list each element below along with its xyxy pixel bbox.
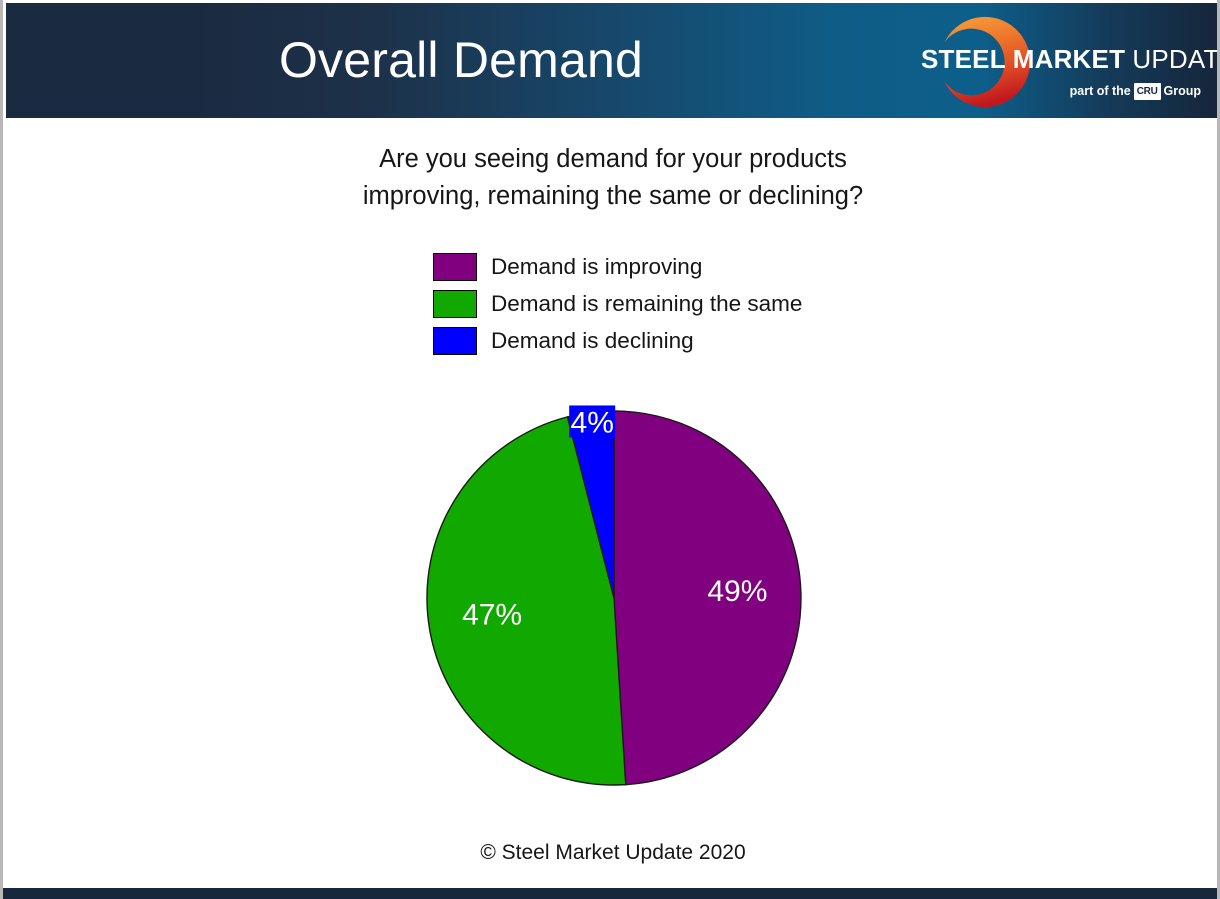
- legend-label-declining: Demand is declining: [491, 328, 694, 354]
- legend-label-improving: Demand is improving: [491, 254, 702, 280]
- logo-wordmark-bold: STEEL MARKET: [921, 44, 1125, 74]
- chart-question-title: Are you seeing demand for your products …: [6, 141, 1220, 215]
- logo-tagline-suffix: Group: [1164, 84, 1202, 98]
- legend-item-same: Demand is remaining the same: [433, 285, 913, 322]
- logo-tagline-prefix: part of the: [1070, 84, 1131, 98]
- legend-item-improving: Demand is improving: [433, 248, 913, 285]
- logo-wordmark: STEEL MARKET UPDATE: [918, 43, 1208, 75]
- page-title: Overall Demand: [6, 29, 916, 91]
- pie-data-label: 4%: [571, 406, 614, 439]
- pie-data-label: 47%: [462, 598, 522, 631]
- copyright-note: © Steel Market Update 2020: [6, 841, 1220, 865]
- pie-data-label: 49%: [707, 575, 767, 608]
- bottom-accent-bar: [3, 888, 1220, 899]
- chart-legend: Demand is improving Demand is remaining …: [433, 248, 913, 359]
- logo-tagline: part of theCRUGroup: [918, 83, 1201, 100]
- legend-swatch-same: [433, 290, 477, 318]
- logo-wordmark-light: UPDATE: [1132, 44, 1220, 74]
- question-line-1: Are you seeing demand for your products: [6, 141, 1220, 178]
- slide-canvas: Overall Demand: [0, 0, 1220, 899]
- cru-badge: CRU: [1134, 83, 1161, 100]
- legend-swatch-declining: [433, 327, 477, 355]
- steel-market-update-logo: STEEL MARKET UPDATE part of theCRUGroup: [918, 11, 1208, 111]
- legend-item-declining: Demand is declining: [433, 322, 913, 359]
- header-banner: Overall Demand: [6, 3, 1220, 118]
- question-line-2: improving, remaining the same or declini…: [6, 178, 1220, 215]
- pie-chart-svg: 49%47%4%: [418, 400, 818, 800]
- pie-chart: 49%47%4%: [418, 400, 818, 800]
- legend-label-same: Demand is remaining the same: [491, 291, 802, 317]
- legend-swatch-improving: [433, 253, 477, 281]
